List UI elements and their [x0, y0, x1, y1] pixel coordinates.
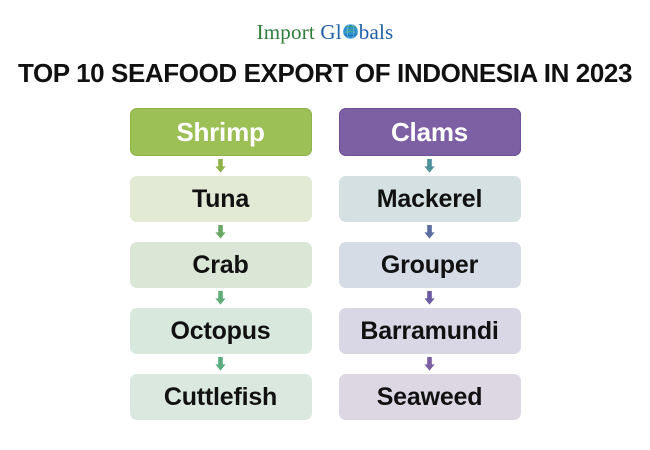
arrow-down-icon: [215, 291, 226, 305]
node-octopus[interactable]: Octopus: [130, 308, 312, 354]
connector-5: [424, 156, 435, 176]
node-label: Grouper: [381, 251, 478, 280]
node-label: Barramundi: [360, 317, 498, 346]
arrow-down-icon: [424, 357, 435, 371]
page-title: TOP 10 SEAFOOD EXPORT OF INDONESIA IN 20…: [0, 58, 650, 89]
brand-logo: Import Gl bals: [0, 22, 650, 43]
left-column: Shrimp Tuna Crab: [130, 108, 312, 420]
node-label: Clams: [391, 117, 468, 148]
connector-1: [215, 156, 226, 176]
node-mackerel[interactable]: Mackerel: [339, 176, 521, 222]
arrow-down-icon: [215, 159, 226, 173]
connector-6: [424, 222, 435, 242]
node-crab[interactable]: Crab: [130, 242, 312, 288]
globe-icon: [342, 23, 359, 40]
node-tuna[interactable]: Tuna: [130, 176, 312, 222]
node-cuttlefish[interactable]: Cuttlefish: [130, 374, 312, 420]
node-shrimp[interactable]: Shrimp: [130, 108, 312, 156]
node-label: Cuttlefish: [164, 383, 277, 412]
node-label: Shrimp: [176, 117, 264, 148]
diagram-columns: Shrimp Tuna Crab: [0, 108, 650, 420]
node-label: Mackerel: [377, 185, 482, 214]
node-label: Tuna: [192, 185, 249, 214]
node-label: Crab: [192, 251, 248, 280]
node-grouper[interactable]: Grouper: [339, 242, 521, 288]
arrow-down-icon: [215, 225, 226, 239]
connector-3: [215, 288, 226, 308]
arrow-down-icon: [424, 159, 435, 173]
node-seaweed[interactable]: Seaweed: [339, 374, 521, 420]
node-label: Octopus: [171, 317, 271, 346]
connector-4: [215, 354, 226, 374]
logo-text-bals: bals: [359, 20, 394, 44]
right-column: Clams Mackerel Grouper: [339, 108, 521, 420]
logo-text-gl: Gl: [320, 20, 341, 44]
arrow-down-icon: [424, 291, 435, 305]
connector-2: [215, 222, 226, 242]
infographic-canvas: Import Gl bals TOP 10 SEAFOOD EXPORT OF …: [0, 0, 650, 450]
arrow-down-icon: [424, 225, 435, 239]
node-barramundi[interactable]: Barramundi: [339, 308, 521, 354]
arrow-down-icon: [215, 357, 226, 371]
node-label: Seaweed: [377, 383, 483, 412]
node-clams[interactable]: Clams: [339, 108, 521, 156]
connector-7: [424, 288, 435, 308]
connector-8: [424, 354, 435, 374]
logo-text-import: Import: [257, 20, 315, 44]
